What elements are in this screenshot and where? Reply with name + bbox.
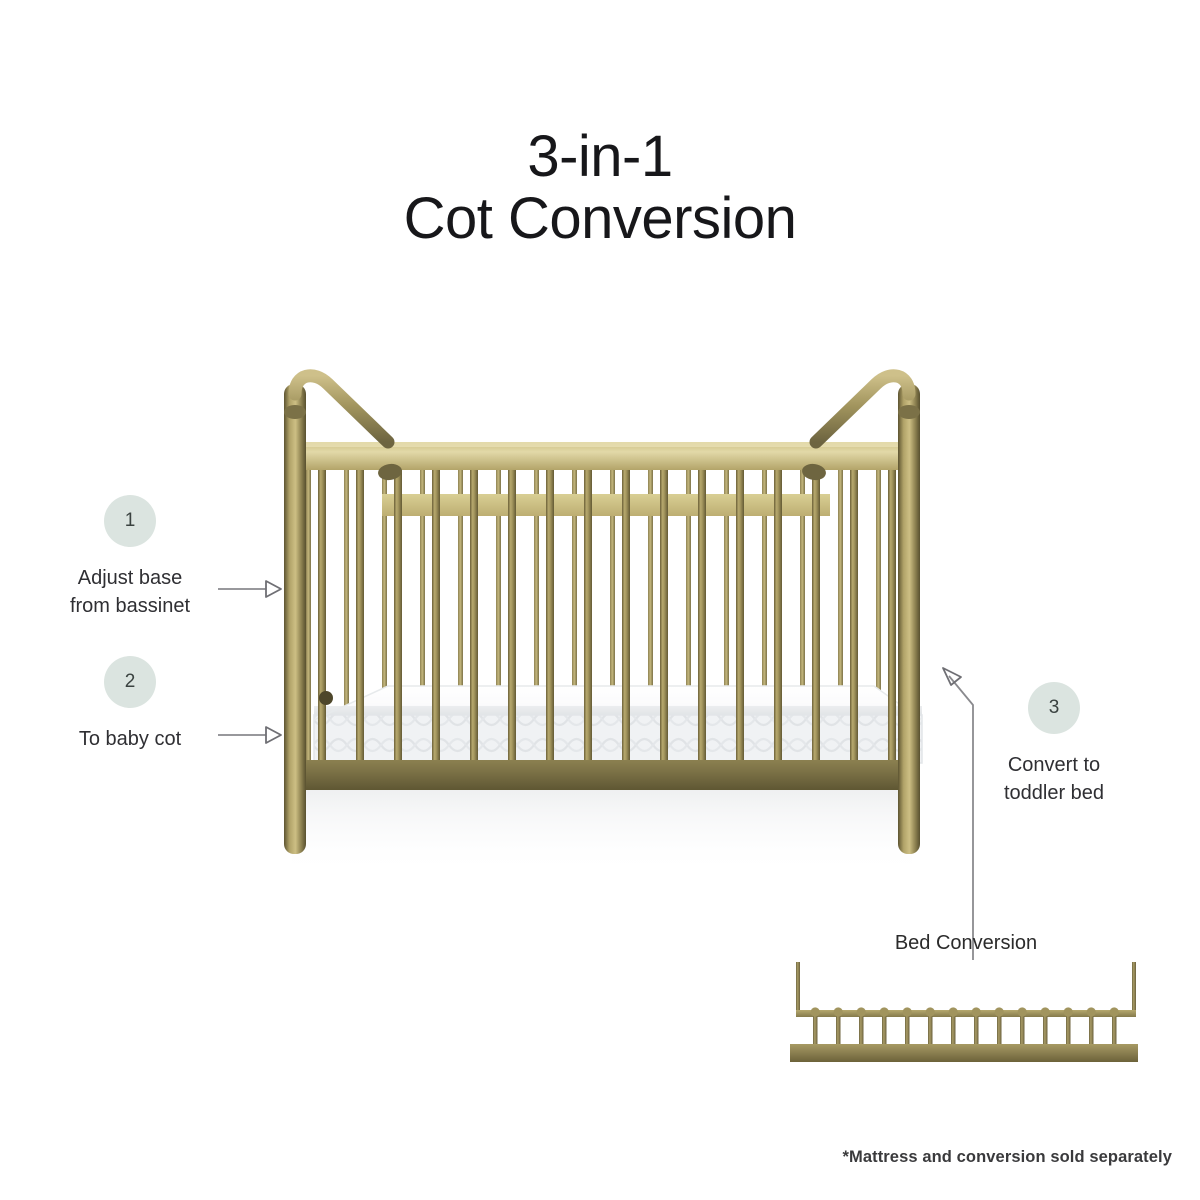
callout-1-line-1: Adjust base — [26, 564, 234, 592]
callout-1-badge: 1 — [104, 495, 156, 547]
arrow-right-icon — [218, 578, 284, 600]
top-rail-highlight — [284, 442, 920, 447]
left-arch — [295, 376, 388, 442]
right-arch — [816, 376, 909, 442]
callout-2-text: To baby cot — [26, 725, 234, 753]
mattress — [314, 686, 922, 763]
far-top-rail — [382, 494, 830, 516]
callout-2-badge: 2 — [104, 656, 156, 708]
arrow-right-icon — [218, 724, 284, 746]
bed-rail-base — [790, 1044, 1138, 1062]
page-title: 3-in-1 Cot Conversion — [0, 126, 1200, 250]
callout-1-text: Adjust base from bassinet — [26, 564, 234, 621]
infographic-canvas: 3-in-1 Cot Conversion — [0, 0, 1200, 1200]
callout-2-line-1: To baby cot — [26, 725, 234, 753]
cot-illustration — [262, 368, 942, 873]
callout-3-badge: 3 — [1028, 682, 1080, 734]
bed-rail-top — [796, 1010, 1136, 1017]
title-line-2: Cot Conversion — [0, 188, 1200, 250]
callout-1: 1 Adjust base from bassinet — [26, 495, 234, 621]
callout-2: 2 To baby cot — [26, 656, 234, 753]
left-end-riser — [796, 962, 800, 1014]
right-corner-post — [898, 384, 920, 854]
left-corner-post — [284, 384, 306, 854]
callout-1-line-2: from bassinet — [26, 592, 234, 620]
base-hardware-knob — [319, 691, 333, 705]
bottom-rail — [284, 760, 920, 790]
right-end-riser — [1132, 962, 1136, 1014]
right-arch-joint — [898, 405, 920, 419]
title-line-1: 3-in-1 — [0, 126, 1200, 188]
bed-conversion-illustration — [786, 960, 1146, 1065]
arrow-up-left-icon — [935, 660, 995, 960]
footnote: *Mattress and conversion sold separately — [0, 1148, 1172, 1167]
left-arch-joint — [284, 405, 306, 419]
bed-conversion-label: Bed Conversion — [786, 932, 1146, 955]
